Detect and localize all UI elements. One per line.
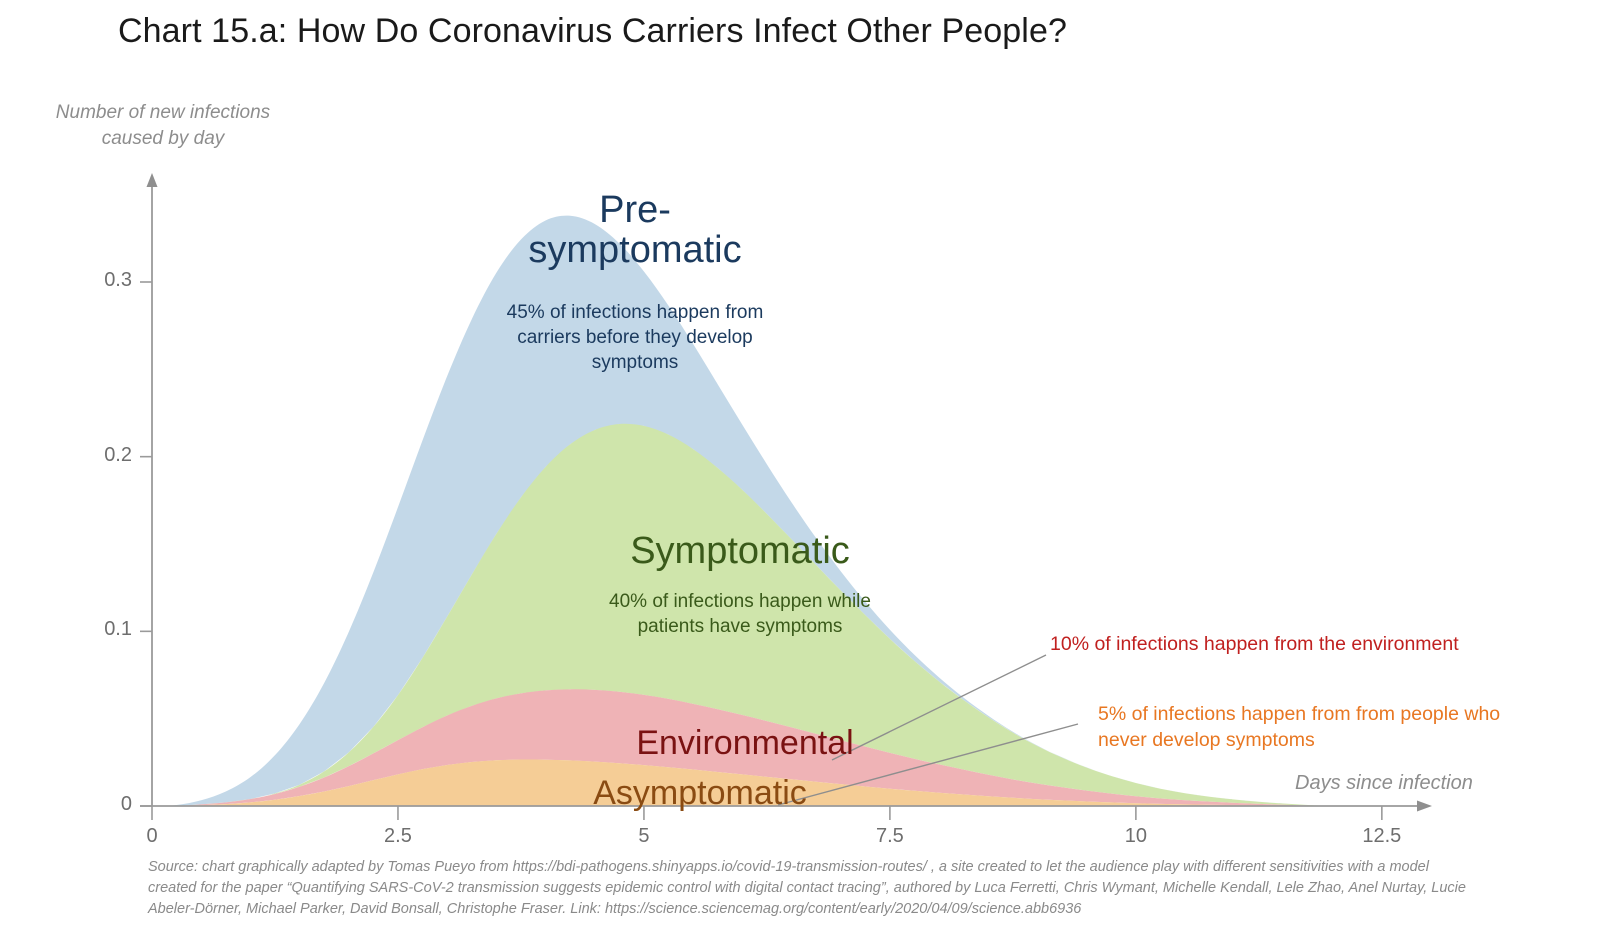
callout-asymptomatic: 5% of infections happen from from people… <box>1098 701 1538 754</box>
callout-environment: 10% of infections happen from the enviro… <box>1050 631 1510 657</box>
x-tick-label: 0 <box>112 825 192 848</box>
x-tick-label: 5 <box>604 825 684 848</box>
y-tick-label: 0.1 <box>52 618 132 641</box>
y-tick-label: 0.2 <box>52 444 132 467</box>
band-sublabel-symptomatic: 40% of infections happen while patients … <box>575 589 905 639</box>
chart-canvas: Chart 15.a: How Do Coronavirus Carriers … <box>0 0 1600 939</box>
band-sublabel-presymptomatic: 45% of infections happen from carriers b… <box>500 300 770 375</box>
y-axis-arrow-icon <box>147 173 158 187</box>
y-tick-label: 0.3 <box>52 269 132 292</box>
band-label-presymptomatic: Pre-symptomatic <box>495 190 775 271</box>
x-tick-label: 10 <box>1096 825 1176 848</box>
band-label-asymptomatic: Asymptomatic <box>550 775 850 811</box>
band-label-environmental: Environmental <box>595 725 895 761</box>
x-tick-label: 2.5 <box>358 825 438 848</box>
source-note: Source: chart graphically adapted by Tom… <box>148 857 1478 920</box>
y-tick-label: 0 <box>52 793 132 816</box>
band-label-symptomatic: Symptomatic <box>570 531 910 571</box>
x-axis-arrow-icon <box>1417 801 1432 812</box>
x-tick-label: 7.5 <box>850 825 930 848</box>
x-tick-label: 12.5 <box>1342 825 1422 848</box>
y-tick-marks <box>140 282 152 806</box>
